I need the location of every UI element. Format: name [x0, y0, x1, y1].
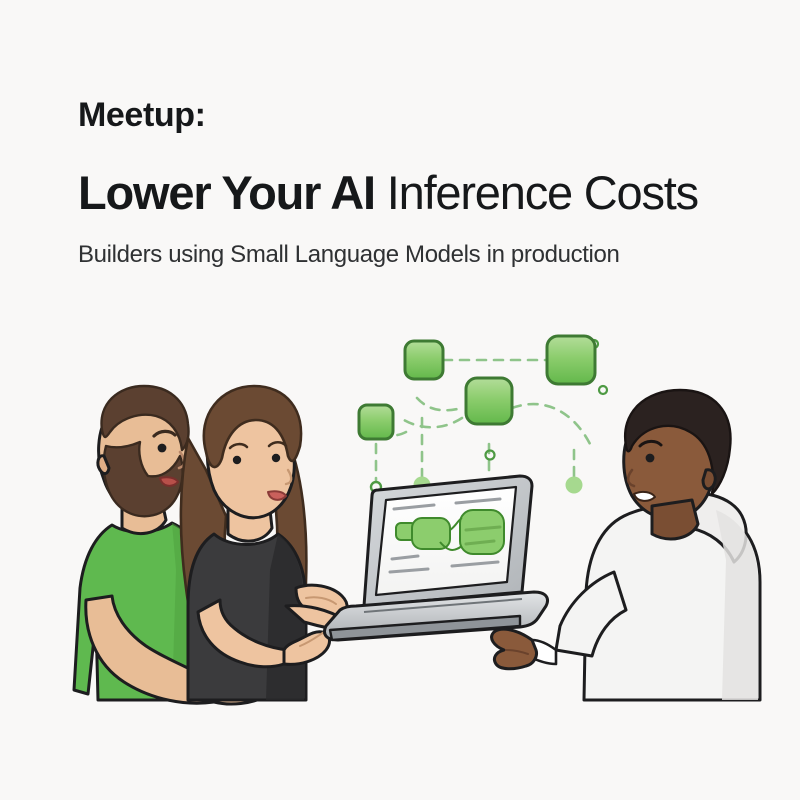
dot-filled-b	[566, 477, 583, 494]
page-title: Lower Your AI Inference Costs	[78, 168, 768, 217]
neck-right	[652, 500, 698, 539]
kicker-label: Meetup:	[78, 98, 768, 134]
mouth-right-person	[634, 492, 655, 501]
dot-hollow-far-right	[599, 386, 607, 394]
screen-blob-mid	[412, 518, 450, 549]
eye-right-person	[646, 454, 655, 463]
subtitle: Builders using Small Language Models in …	[78, 241, 768, 269]
text-block: Meetup: Lower Your AI Inference Costs Bu…	[78, 98, 768, 269]
illustration-svg	[0, 320, 800, 800]
mouth-left-person	[160, 477, 178, 486]
person-center-woman	[181, 386, 352, 700]
node-center	[466, 378, 512, 424]
node-left-small	[359, 405, 393, 439]
hand-right-person	[492, 629, 537, 669]
connector-topleft-to-center	[417, 398, 462, 410]
diagram-nodes	[359, 336, 595, 439]
laptop	[325, 476, 548, 640]
poster-canvas: Meetup: Lower Your AI Inference Costs Bu…	[0, 0, 800, 800]
screen-blob-large	[460, 510, 504, 554]
connector-center-left-curve	[404, 418, 462, 427]
headline-light: Inference Costs	[387, 166, 698, 219]
ear-right	[703, 470, 715, 489]
headline-strong: Lower Your AI	[78, 166, 387, 219]
connector-center-to-topright	[512, 404, 592, 448]
eye-left-person	[158, 444, 167, 453]
person-right-man	[492, 390, 760, 700]
mouth-woman	[268, 491, 286, 500]
node-top-left	[405, 341, 443, 379]
node-top-right	[547, 336, 595, 384]
illustration	[0, 320, 800, 800]
eye-woman-left	[233, 456, 241, 464]
eye-woman-right	[272, 454, 280, 462]
